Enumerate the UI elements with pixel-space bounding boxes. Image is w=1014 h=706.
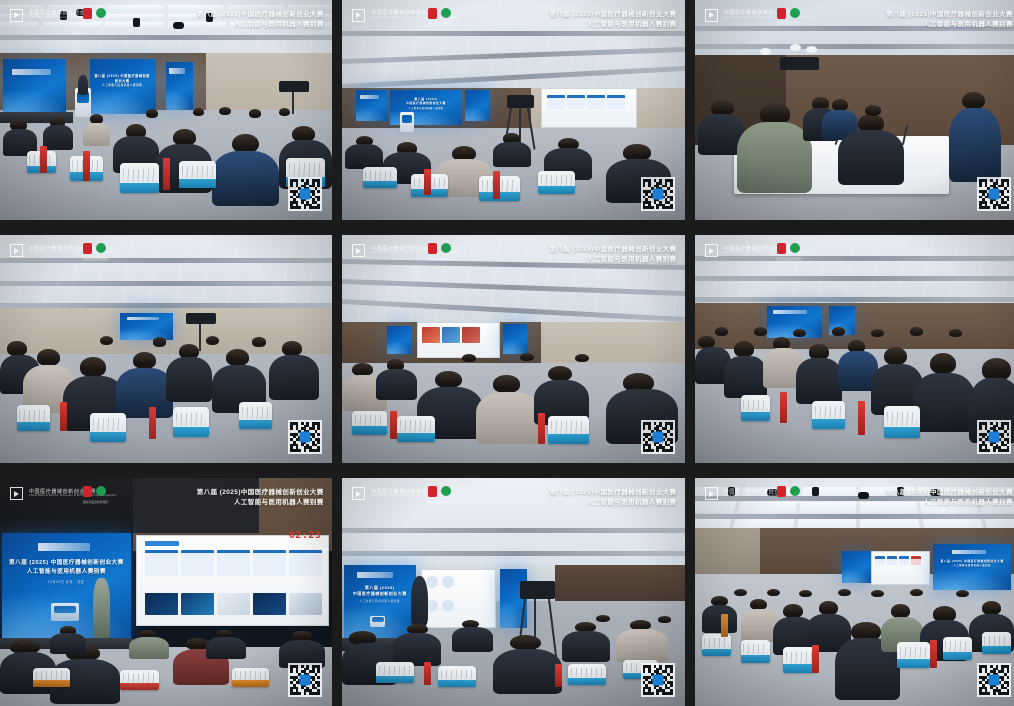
watermark-sublabel: 国家药品监督管理局	[777, 21, 802, 25]
red-badge-icon	[428, 243, 437, 254]
watermark-sublogos	[83, 243, 106, 254]
bracket-logo-icon	[10, 9, 23, 22]
watermark-title-line1: 第八届 (2025)中国医疗器械创新创业大赛	[886, 10, 1013, 20]
bracket-logo-icon	[10, 244, 23, 257]
screen-title-line1: 第八届 (2025) 中国医疗器械创新创业大赛	[94, 73, 151, 83]
watermark-title-line2: 人工智能与医用机器人赛别赛	[886, 20, 1013, 30]
watermark-title: 第八届 (2025)中国医疗器械创新创业大赛 人工智能与医用机器人赛别赛	[886, 488, 1013, 508]
watermark-sublogos	[428, 8, 451, 19]
qr-code-icon	[288, 177, 322, 211]
watermark-title: 第八届 (2025)中国医疗器械创新创业大赛 人工智能与医用机器人赛别赛	[197, 10, 324, 30]
red-badge-icon	[777, 8, 786, 19]
watermark-title: 第八届 (2025)中国医疗器械创新创业大赛 人工智能与医用机器人赛别赛	[886, 10, 1013, 30]
watermark-sublogos	[777, 8, 800, 19]
gallery-photo-6[interactable]: 中国医疗器械创新创业大赛 China Medical Device Innova…	[695, 235, 1014, 463]
watermark-title-line2: 人工智能与医用机器人赛别赛	[886, 498, 1013, 508]
watermark-title-line1: 第八届 (2025)中国医疗器械创新创业大赛	[550, 245, 677, 255]
red-badge-icon	[83, 486, 92, 497]
green-badge-icon	[96, 243, 106, 253]
red-badge-icon	[428, 8, 437, 19]
bracket-logo-icon	[705, 244, 718, 257]
watermark-sublabel: 国家药品监督管理局	[428, 257, 453, 261]
screen-title-line2: 人工智能与医用机器人赛别赛	[94, 83, 151, 87]
watermark-sublabel: 国家药品监督管理局	[83, 257, 108, 261]
photo-scene	[0, 235, 332, 463]
watermark-sublabel: 国家药品监督管理局	[777, 257, 802, 261]
watermark-title-line2: 人工智能与医用机器人赛别赛	[197, 498, 324, 508]
red-badge-icon	[83, 8, 92, 19]
red-badge-icon	[83, 243, 92, 254]
gallery-photo-3[interactable]: 中国医疗器械创新创业大赛 China Medical Device Innova…	[695, 0, 1014, 220]
gallery-photo-8[interactable]: 第八届 (2025) 中国医疗器械创新创业大赛 人工智能与医用机器人赛别赛	[342, 478, 685, 706]
screen-title-line2: 中国医疗器械创新创业大赛	[348, 591, 411, 597]
qr-code-icon	[977, 177, 1011, 211]
screen-title-line2: 人工智能与医用机器人赛别赛	[8, 567, 125, 575]
green-badge-icon	[96, 8, 106, 18]
qr-code-icon	[288, 663, 322, 697]
screen-title-line1: 第八届 (2025) 中国医疗器械创新创业大赛	[8, 558, 125, 566]
screen-title-line2: 中国医疗器械创新创业大赛	[396, 101, 457, 105]
green-badge-icon	[790, 486, 800, 496]
watermark-title-line1: 第八届 (2025)中国医疗器械创新创业大赛	[550, 10, 677, 20]
photo-scene	[695, 0, 1014, 220]
qr-code-icon	[977, 420, 1011, 454]
watermark-title-line1: 第八届 (2025)中国医疗器械创新创业大赛	[886, 488, 1013, 498]
gallery-photo-7[interactable]: 第八届 (2025) 中国医疗器械创新创业大赛 人工智能与医用机器人赛别赛 11…	[0, 478, 332, 706]
watermark-sublabel: 国家药品监督管理局	[428, 500, 453, 504]
red-badge-icon	[428, 486, 437, 497]
photo-scene: 第八届 (2025) 中国医疗器械创新创业大赛 人工智能与医用机器人赛别赛	[342, 478, 685, 706]
bracket-logo-icon	[705, 9, 718, 22]
watermark-sublogos	[83, 486, 106, 497]
photo-scene: 第八届 (2025) 中国医疗器械创新创业大赛 人工智能与医用机器人赛别赛 11…	[0, 478, 332, 706]
watermark-title-line1: 第八届 (2025)中国医疗器械创新创业大赛	[550, 488, 677, 498]
watermark-sublabel: 国家药品监督管理局	[428, 21, 453, 25]
watermark-sublogos	[428, 243, 451, 254]
watermark-sublogos	[777, 243, 800, 254]
gallery-photo-4[interactable]: 中国医疗器械创新创业大赛 China Medical Device Innova…	[0, 235, 332, 463]
watermark-sublabel: 国家药品监督管理局	[777, 500, 802, 504]
green-badge-icon	[441, 8, 451, 18]
photo-scene	[695, 235, 1014, 463]
screen-date: 人工智能与医用机器人赛别赛	[348, 599, 411, 603]
gallery-photo-2[interactable]: 第八届 (2025) 中国医疗器械创新创业大赛 人工智能与医用机器人赛别赛	[342, 0, 685, 220]
green-badge-icon	[441, 243, 451, 253]
green-badge-icon	[790, 8, 800, 18]
photo-scene: 第八届 (2025) 中国医疗器械创新创业大赛 人工智能与医用机器人赛别赛	[695, 478, 1014, 706]
watermark-title-line1: 第八届 (2025)中国医疗器械创新创业大赛	[197, 488, 324, 498]
watermark-title: 第八届 (2025)中国医疗器械创新创业大赛 人工智能与医用机器人赛别赛	[550, 488, 677, 508]
qr-code-icon	[288, 420, 322, 454]
watermark-sublogos	[777, 486, 800, 497]
countdown-timer: 02:23	[289, 530, 322, 541]
audience	[0, 97, 332, 220]
bracket-logo-icon	[352, 244, 365, 257]
green-badge-icon	[790, 243, 800, 253]
green-badge-icon	[96, 486, 106, 496]
watermark-title-line2: 人工智能与医用机器人赛别赛	[550, 20, 677, 30]
photo-scene: 第八届 (2025) 中国医疗器械创新创业大赛 人工智能与医用机器人赛别赛	[0, 0, 332, 220]
presentation-slide	[136, 535, 329, 626]
qr-code-icon	[977, 663, 1011, 697]
watermark-title-line2: 人工智能与医用机器人赛别赛	[550, 498, 677, 508]
watermark-sublabel: 国家药品监督管理局	[83, 500, 108, 504]
qr-code-icon	[641, 663, 675, 697]
screen-date: 人工智能与医用机器人赛别赛	[396, 106, 457, 110]
bracket-logo-icon	[352, 9, 365, 22]
green-badge-icon	[441, 486, 451, 496]
watermark-sublogos	[428, 486, 451, 497]
watermark-title: 第八届 (2025)中国医疗器械创新创业大赛 人工智能与医用机器人赛别赛	[197, 488, 324, 508]
watermark-title-line2: 人工智能与医用机器人赛别赛	[550, 255, 677, 265]
watermark-title: 第八届 (2025)中国医疗器械创新创业大赛 人工智能与医用机器人赛别赛	[550, 10, 677, 30]
watermark-title-line1: 第八届 (2025)中国医疗器械创新创业大赛	[197, 10, 324, 20]
photo-scene	[342, 235, 685, 463]
photo-scene: 第八届 (2025) 中国医疗器械创新创业大赛 人工智能与医用机器人赛别赛	[342, 0, 685, 220]
photo-gallery-grid: 第八届 (2025) 中国医疗器械创新创业大赛 人工智能与医用机器人赛别赛	[0, 0, 1014, 693]
bracket-logo-icon	[705, 487, 718, 500]
watermark-title-line2: 人工智能与医用机器人赛别赛	[197, 20, 324, 30]
bracket-logo-icon	[10, 487, 23, 500]
watermark-sublabel: 国家药品监督管理局	[83, 21, 108, 25]
red-badge-icon	[777, 243, 786, 254]
bracket-logo-icon	[352, 487, 365, 500]
watermark-title: 第八届 (2025)中国医疗器械创新创业大赛 人工智能与医用机器人赛别赛	[550, 245, 677, 265]
gallery-photo-9[interactable]: 第八届 (2025) 中国医疗器械创新创业大赛 人工智能与医用机器人赛别赛	[695, 478, 1014, 706]
qr-code-icon	[641, 177, 675, 211]
qr-code-icon	[641, 420, 675, 454]
gallery-photo-1[interactable]: 第八届 (2025) 中国医疗器械创新创业大赛 人工智能与医用机器人赛别赛	[0, 0, 332, 220]
watermark-sublogos	[83, 8, 106, 19]
screen-title-line2: 人工智能与医用机器人赛别赛	[939, 563, 1005, 567]
red-badge-icon	[777, 486, 786, 497]
gallery-photo-5[interactable]: 中国医疗器械创新创业大赛 China Medical Device Innova…	[342, 235, 685, 463]
